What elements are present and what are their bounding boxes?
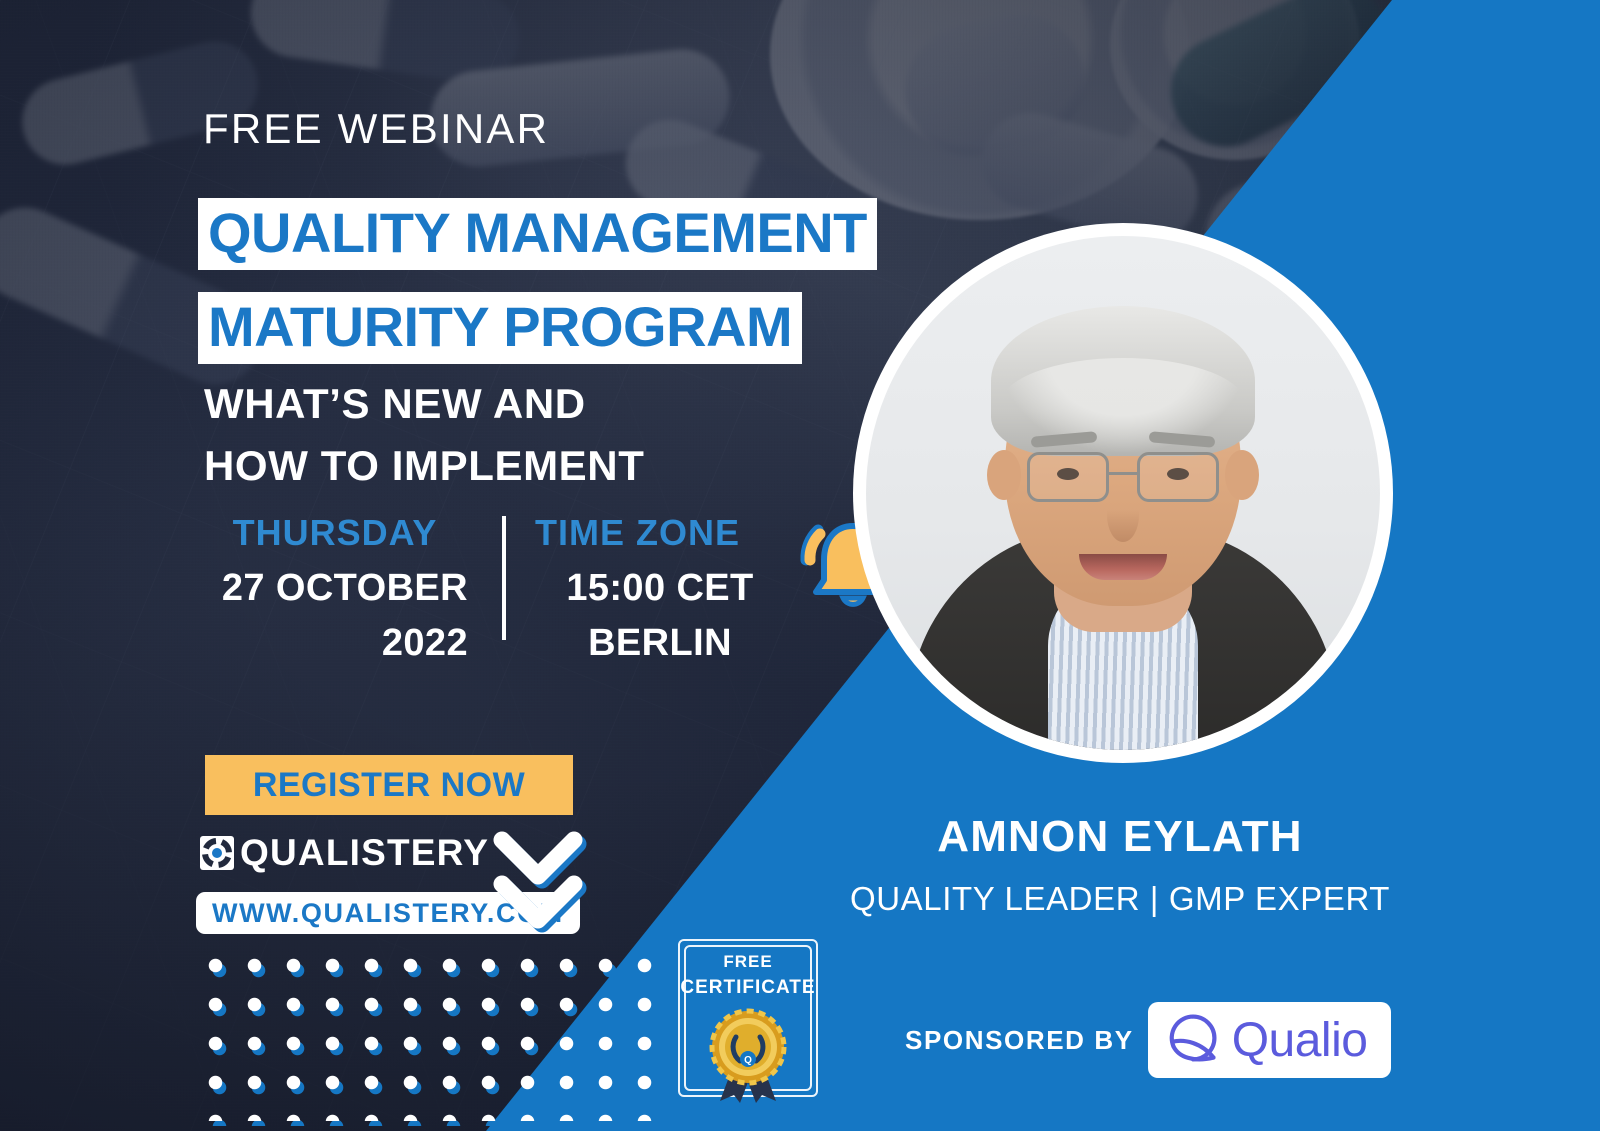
title-line-2: MATURITY PROGRAM xyxy=(198,292,802,364)
portrait-glasses-bridge xyxy=(1109,472,1137,475)
qualistery-mark-icon xyxy=(200,836,234,870)
speaker-photo-ring xyxy=(853,223,1393,763)
date-value: 27 OCTOBER 2022 xyxy=(200,561,470,671)
schedule-divider xyxy=(502,516,506,640)
title-line-1-wrap: QUALITY MANAGEMENT xyxy=(198,198,877,270)
portrait-smile xyxy=(1079,554,1167,580)
date-line-2: 2022 xyxy=(200,616,468,671)
svg-text:Q: Q xyxy=(744,1055,752,1066)
portrait-ear-left xyxy=(987,450,1021,500)
portrait-glasses-right xyxy=(1137,452,1219,502)
register-now-label: REGISTER NOW xyxy=(253,766,525,805)
date-line-1: 27 OCTOBER xyxy=(200,561,468,616)
speaker-role: QUALITY LEADER | GMP EXPERT xyxy=(830,880,1410,918)
certificate-line-1: FREE xyxy=(672,952,824,972)
dot-grid-pattern xyxy=(196,946,664,1121)
qualistery-wordmark: QUALISTERY xyxy=(240,832,489,874)
timezone-label: TIME ZONE xyxy=(535,512,785,553)
eyebrow-label: FREE WEBINAR xyxy=(203,105,549,153)
free-certificate-badge: FREE CERTIFICATE Q xyxy=(672,933,824,1103)
time-line-1: 15:00 CET xyxy=(535,561,785,616)
speaker-name: AMNON EYLATH xyxy=(830,812,1410,862)
portrait-hair xyxy=(991,306,1255,456)
qualio-logo[interactable]: Qualio xyxy=(1148,1002,1392,1078)
time-line-2: BERLIN xyxy=(535,616,785,671)
subtitle-line-1: WHAT’S NEW AND xyxy=(204,375,586,433)
webinar-poster: FREE WEBINAR QUALITY MANAGEMENT MATURITY… xyxy=(0,0,1600,1131)
award-medal-icon: Q xyxy=(702,1003,794,1103)
speaker-portrait xyxy=(866,236,1380,750)
qualio-wordmark: Qualio xyxy=(1232,1013,1368,1068)
title-line-2-wrap: MATURITY PROGRAM xyxy=(198,292,802,364)
title-line-1: QUALITY MANAGEMENT xyxy=(198,198,877,270)
schedule-block: THURSDAY 27 OCTOBER 2022 TIME ZONE 15:00… xyxy=(200,512,800,682)
double-chevron-down-icon xyxy=(492,828,592,934)
sponsor-block: SPONSORED BY Qualio xyxy=(905,1002,1391,1078)
time-column: TIME ZONE 15:00 CET BERLIN xyxy=(535,512,785,672)
qualio-logo-icon xyxy=(1166,1011,1220,1070)
day-label: THURSDAY xyxy=(200,512,470,553)
certificate-line-2: CERTIFICATE xyxy=(672,977,824,999)
portrait-nose xyxy=(1107,488,1139,542)
portrait-ear-right xyxy=(1225,450,1259,500)
subtitle-line-2: HOW TO IMPLEMENT xyxy=(204,437,644,495)
portrait-glasses-left xyxy=(1027,452,1109,502)
date-column: THURSDAY 27 OCTOBER 2022 xyxy=(200,512,470,672)
time-value: 15:00 CET BERLIN xyxy=(535,561,785,671)
qualistery-brand: QUALISTERY xyxy=(200,832,489,874)
sponsored-by-label: SPONSORED BY xyxy=(905,1025,1134,1056)
register-now-button[interactable]: REGISTER NOW xyxy=(205,755,573,815)
